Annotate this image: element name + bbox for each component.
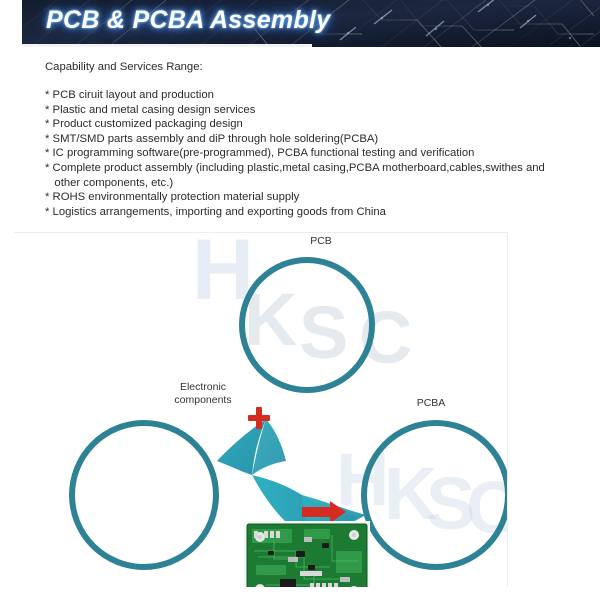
list-item: * ROHS environmentally protection materi… — [45, 190, 575, 205]
diagram-label-electronic-components: Electronic components — [155, 381, 251, 406]
process-diagram: H K S C H K S C — [14, 232, 508, 587]
diagram-label-pcba: PCBA — [386, 397, 476, 410]
pcb-board-image — [244, 521, 370, 587]
list-item: * IC programming software(pre-programmed… — [45, 146, 575, 161]
list-item: * Product customized packaging design — [45, 117, 575, 132]
page-root: PCB & PCBA Assembly Capability and Servi… — [0, 0, 600, 600]
ring-electronic-components — [72, 423, 216, 567]
list-item: * SMT/SMD parts assembly and diP through… — [45, 132, 575, 147]
capability-list: Capability and Services Range: * PCB cir… — [45, 60, 575, 219]
title-underline — [22, 44, 312, 47]
page-title: PCB & PCBA Assembly — [46, 6, 330, 35]
diagram-label-pcb: PCB — [276, 235, 366, 248]
intro-text: Capability and Services Range: — [45, 60, 575, 74]
list-item: * Logistics arrangements, importing and … — [45, 205, 575, 220]
ring-pcb — [242, 260, 372, 390]
ring-pcba — [364, 423, 508, 567]
bullet-list: * PCB ciruit layout and production * Pla… — [45, 88, 575, 219]
list-item: * Complete product assembly (including p… — [45, 161, 575, 190]
list-item: * Plastic and metal casing design servic… — [45, 103, 575, 118]
list-item: * PCB ciruit layout and production — [45, 88, 575, 103]
header-banner: PCB & PCBA Assembly — [22, 0, 600, 47]
